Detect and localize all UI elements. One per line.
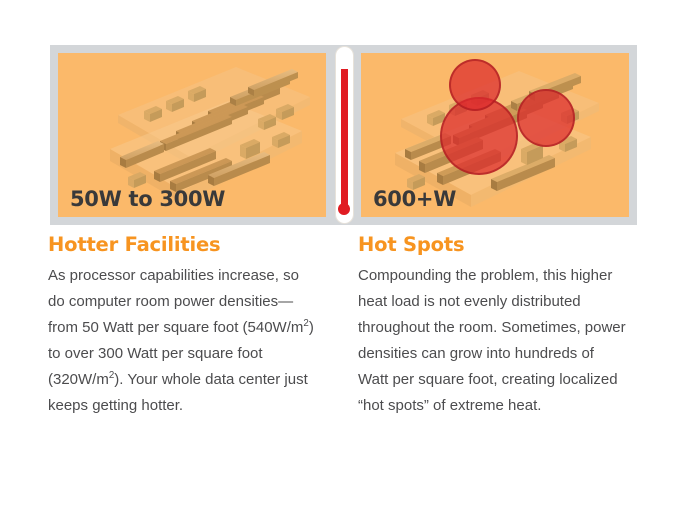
figure-frame: 50W to 300W xyxy=(50,45,637,225)
heading-hot-spots: Hot Spots xyxy=(358,233,626,256)
column-hot-spots: Hot Spots Compounding the problem, this … xyxy=(358,233,626,419)
thermometer-mercury xyxy=(341,69,348,205)
panel-label-right: 600+W xyxy=(373,187,456,211)
thermometer-column xyxy=(326,53,361,217)
panel-label-left: 50W to 300W xyxy=(70,187,225,211)
body-hot-spots: Compounding the problem, this higher hea… xyxy=(358,263,626,419)
body-part-1: Compounding the problem, this higher hea… xyxy=(358,267,626,414)
hot-spot-small-top xyxy=(449,59,501,111)
body-part-1: As processor capabilities increase, so d… xyxy=(48,267,303,336)
heading-hotter-facilities: Hotter Facilities xyxy=(48,233,316,256)
panel-hot-spots: 600+W xyxy=(361,53,629,217)
body-hotter-facilities: As processor capabilities increase, so d… xyxy=(48,263,316,419)
column-hotter-facilities: Hotter Facilities As processor capabilit… xyxy=(48,233,316,419)
figure-inner: 50W to 300W xyxy=(58,53,629,217)
hot-spot-medium-right xyxy=(517,89,575,147)
text-columns: Hotter Facilities As processor capabilit… xyxy=(48,233,648,419)
thermometer-bulb xyxy=(338,203,350,215)
thermometer-icon xyxy=(336,47,353,223)
panel-hotter-facilities: 50W to 300W xyxy=(58,53,326,217)
